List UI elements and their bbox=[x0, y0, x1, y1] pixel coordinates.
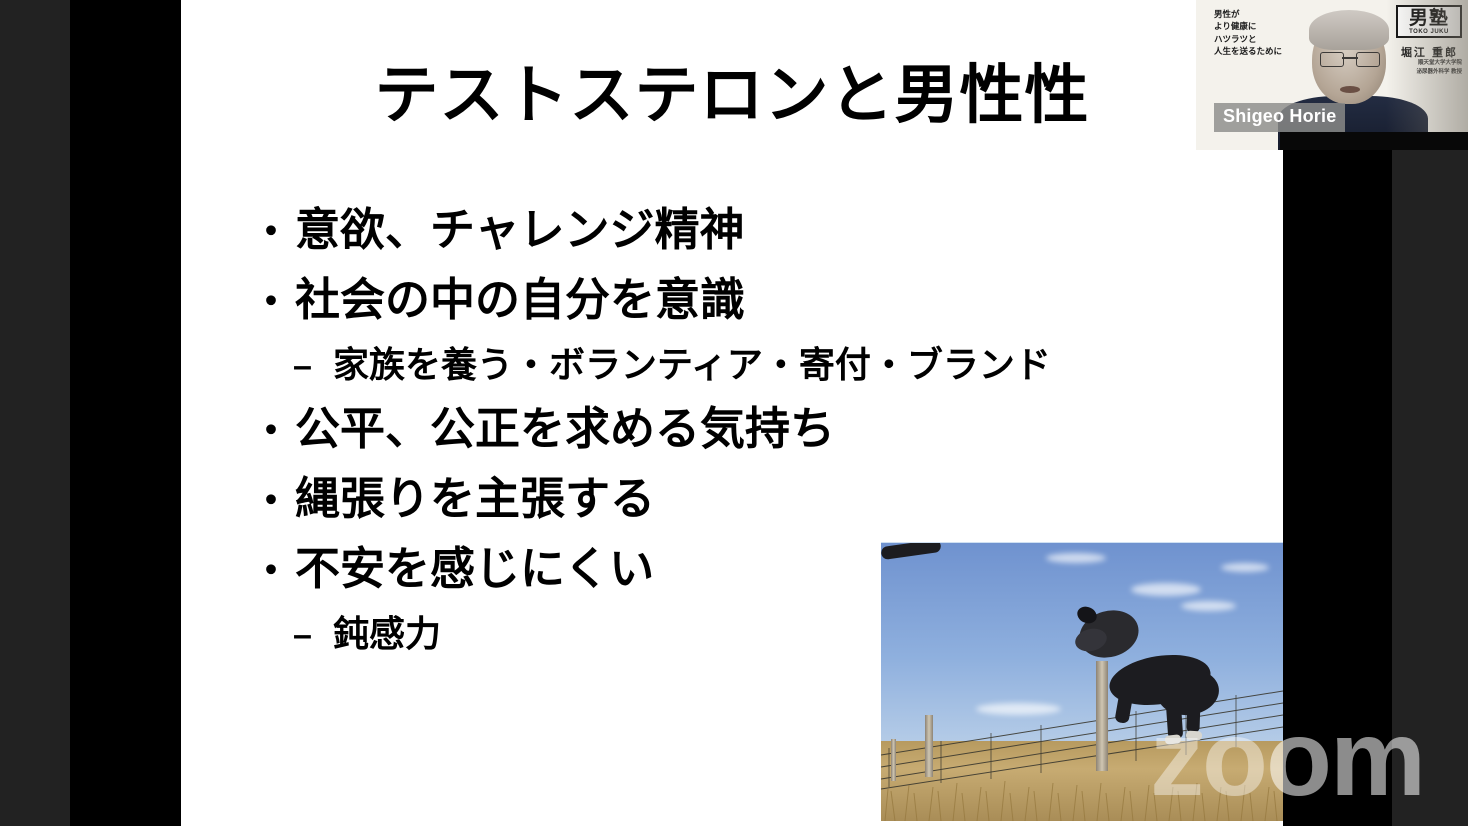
photo-dog-leg bbox=[1166, 701, 1184, 740]
video-wall-shadow bbox=[1386, 0, 1468, 150]
bullet-text: 縄張りを主張する bbox=[295, 465, 655, 533]
bullet-marker-dot-icon: ・ bbox=[251, 268, 295, 336]
sub-bullet-text: 家族を養う・ボランティア・寄付・ブランド bbox=[333, 336, 1051, 394]
poster-tagline-text: 男性が より健康に ハツラツと 人生を送るために bbox=[1214, 8, 1282, 57]
sub-bullet-text: 鈍感力 bbox=[333, 605, 441, 663]
slide-photo-dog-jumping-fence bbox=[881, 542, 1283, 821]
bullet-text: 不安を感じにくい bbox=[295, 535, 654, 603]
bullet-text: 社会の中の自分を意識 bbox=[295, 266, 745, 334]
glasses-lens-right bbox=[1356, 52, 1380, 67]
bullet-marker-dot-icon: ・ bbox=[251, 467, 295, 535]
bullet-text: 意欲、チャレンジ精神 bbox=[295, 196, 745, 264]
bullet-text: 公平、公正を求める気持ち bbox=[295, 395, 835, 463]
glasses-lens-left bbox=[1320, 52, 1344, 67]
bullet-marker-dash-icon: – bbox=[293, 606, 333, 664]
participant-hair bbox=[1309, 10, 1389, 50]
participant-name-label: Shigeo Horie bbox=[1214, 103, 1345, 132]
shared-slide: テストステロンと男性性 ・ 意欲、チャレンジ精神 ・ 社会の中の自分を意識 – … bbox=[181, 0, 1283, 826]
glasses-icon bbox=[1320, 52, 1380, 65]
slide-title: テストステロンと男性性 bbox=[181, 62, 1283, 129]
photo-dog-paw bbox=[1186, 730, 1203, 740]
zoom-shared-screen-stage: テストステロンと男性性 ・ 意欲、チャレンジ精神 ・ 社会の中の自分を意識 – … bbox=[0, 0, 1468, 826]
sub-bullet-item: – 家族を養う・ボランティア・寄付・ブランド bbox=[293, 336, 1251, 395]
video-tile-bottom-bar bbox=[1280, 132, 1468, 150]
bullet-marker-dot-icon: ・ bbox=[251, 198, 295, 266]
bullet-item: ・ 縄張りを主張する bbox=[251, 465, 1251, 535]
participant-video-tile[interactable]: 男性が より健康に ハツラツと 人生を送るために 男塾 TOKO JUKU 堀江… bbox=[1196, 0, 1468, 150]
participant-mouth bbox=[1340, 86, 1360, 93]
bullet-marker-dash-icon: – bbox=[293, 337, 333, 395]
bullet-marker-dot-icon: ・ bbox=[251, 397, 295, 465]
bullet-item: ・ 公平、公正を求める気持ち bbox=[251, 395, 1251, 465]
photo-grass-blades bbox=[881, 741, 1283, 821]
photo-dog-leg bbox=[1186, 699, 1200, 733]
bullet-item: ・ 社会の中の自分を意識 bbox=[251, 266, 1251, 336]
bullet-item: ・ 意欲、チャレンジ精神 bbox=[251, 196, 1251, 266]
bullet-marker-dot-icon: ・ bbox=[251, 537, 295, 605]
letterbox-left bbox=[70, 0, 181, 826]
